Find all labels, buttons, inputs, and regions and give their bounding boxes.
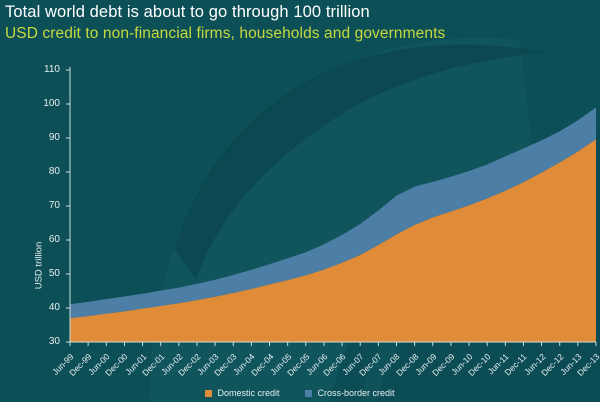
y-axis-tick-label: 90 (34, 132, 60, 143)
chart-subtitle: USD credit to non-financial firms, house… (5, 25, 445, 43)
legend-label: Domestic credit (217, 388, 279, 398)
y-axis-tick-label: 30 (34, 336, 60, 347)
legend-domestic-credit[interactable]: Domestic credit (205, 388, 279, 398)
area-chart-plot (0, 55, 600, 355)
y-axis-tick-label: 70 (34, 200, 60, 211)
chart-legend: Domestic creditCross-border credit (0, 388, 600, 398)
chart-title: Total world debt is about to go through … (5, 3, 370, 22)
chart-plot-container: USD trillion 30405060708090100110 Jun-99… (0, 55, 600, 355)
chart-screenshot: Total world debt is about to go through … (0, 0, 600, 402)
y-axis-tick-label: 60 (34, 234, 60, 245)
legend-cross-border-credit[interactable]: Cross-border credit (305, 388, 394, 398)
y-axis-tick-label: 80 (34, 166, 60, 177)
y-axis-tick-label: 50 (34, 268, 60, 279)
y-axis-tick-label: 40 (34, 302, 60, 313)
y-axis-tick-label: 110 (34, 64, 60, 75)
y-axis-tick-label: 100 (34, 98, 60, 109)
legend-swatch-icon (205, 390, 212, 397)
legend-swatch-icon (305, 390, 312, 397)
legend-label: Cross-border credit (317, 388, 394, 398)
